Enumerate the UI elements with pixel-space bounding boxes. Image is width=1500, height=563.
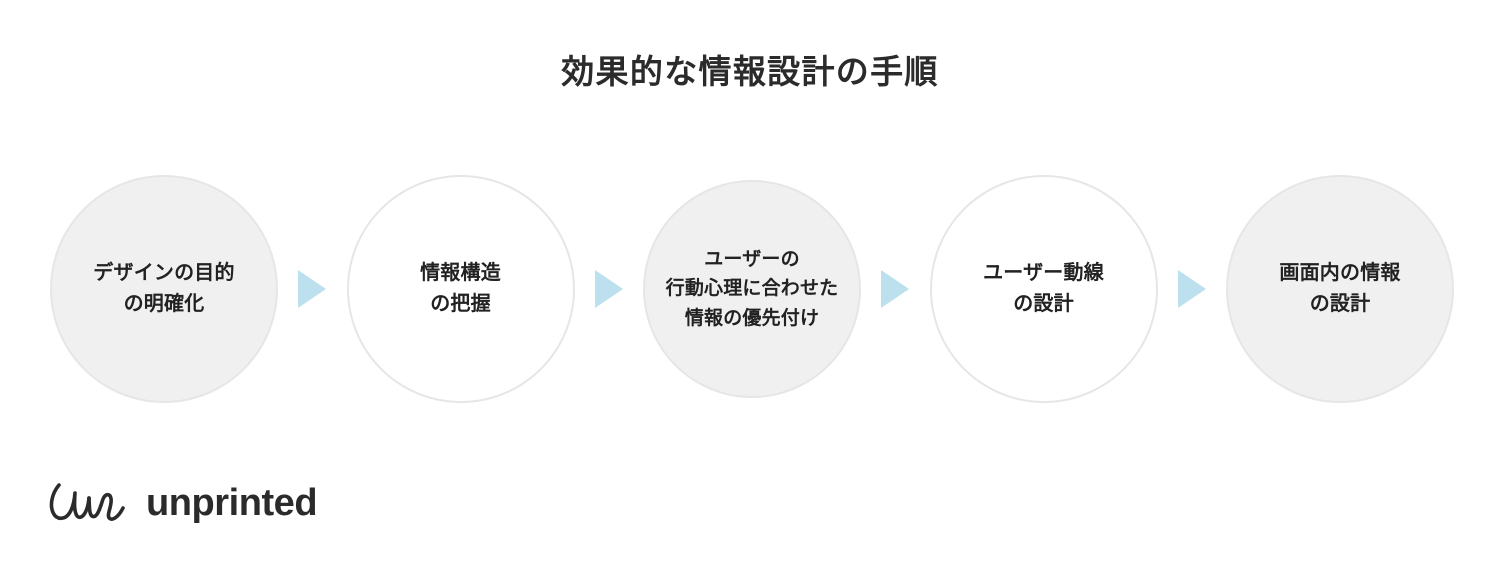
flow-step-4-label: ユーザー動線 の設計 [975, 258, 1112, 320]
flow-step-3: ユーザーの 行動心理に合わせた 情報の優先付け [643, 180, 861, 398]
flow-step-1-label: デザインの目的 の明確化 [85, 258, 242, 320]
brand-logo: unprinted [46, 475, 317, 533]
un-script-monogram-icon [46, 478, 128, 530]
arrow-right-icon [1178, 270, 1206, 308]
brand-wordmark: unprinted [146, 484, 317, 525]
flow-step-5: 画面内の情報 の設計 [1226, 175, 1454, 403]
flow-step-2-label: 情報構造 の把握 [412, 258, 509, 320]
flow-step-4: ユーザー動線 の設計 [930, 175, 1158, 403]
arrow-right-icon [881, 270, 909, 308]
flow-step-3-label: ユーザーの 行動心理に合わせた 情報の優先付け [664, 245, 841, 333]
flow-step-5-label: 画面内の情報 の設計 [1271, 258, 1408, 320]
flow-step-1: デザインの目的 の明確化 [50, 175, 278, 403]
process-flow: デザインの目的 の明確化 情報構造 の把握 ユーザーの 行動心理に合わせた 情報… [50, 175, 1454, 403]
arrow-right-icon [595, 270, 623, 308]
slide-root: 効果的な情報設計の手順 デザインの目的 の明確化 情報構造 の把握 ユーザーの … [0, 0, 1500, 563]
page-title: 効果的な情報設計の手順 [0, 52, 1500, 92]
arrow-right-icon [298, 270, 326, 308]
flow-step-2: 情報構造 の把握 [347, 175, 575, 403]
